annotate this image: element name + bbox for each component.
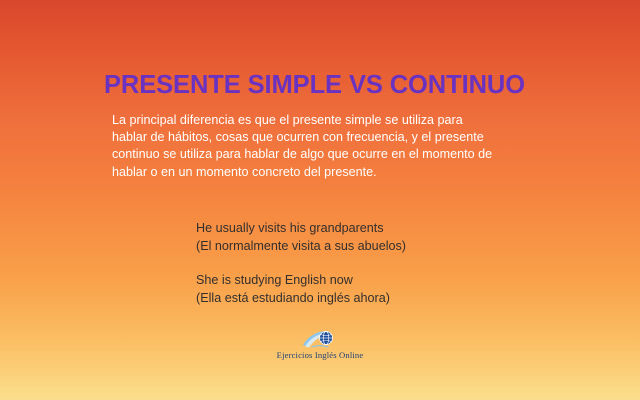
intro-line: hablar de hábitos, cosas que ocurren con… xyxy=(112,129,540,146)
examples-block: He usually visits his grandparents (El n… xyxy=(196,220,516,307)
example-english: She is studying English now xyxy=(196,272,516,290)
intro-line: hablar o en un momento concreto del pres… xyxy=(112,164,540,181)
globe-swoosh-icon xyxy=(302,330,338,349)
example-pair: He usually visits his grandparents (El n… xyxy=(196,220,516,255)
intro-line: La principal diferencia es que el presen… xyxy=(112,112,540,129)
slide-canvas: PRESENTE SIMPLE VS CONTINUO La principal… xyxy=(0,0,640,400)
page-title: PRESENTE SIMPLE VS CONTINUO xyxy=(104,70,544,100)
example-spanish: (El normalmente visita a sus abuelos) xyxy=(196,238,516,256)
example-english: He usually visits his grandparents xyxy=(196,220,516,238)
example-pair: She is studying English now (Ella está e… xyxy=(196,272,516,307)
intro-paragraph: La principal diferencia es que el presen… xyxy=(112,112,540,181)
example-spanish: (Ella está estudiando inglés ahora) xyxy=(196,290,516,308)
logo-text: Ejercicios Inglés Online xyxy=(0,350,640,360)
intro-line: continuo se utiliza para hablar de algo … xyxy=(112,146,540,163)
site-logo: Ejercicios Inglés Online xyxy=(0,330,640,360)
